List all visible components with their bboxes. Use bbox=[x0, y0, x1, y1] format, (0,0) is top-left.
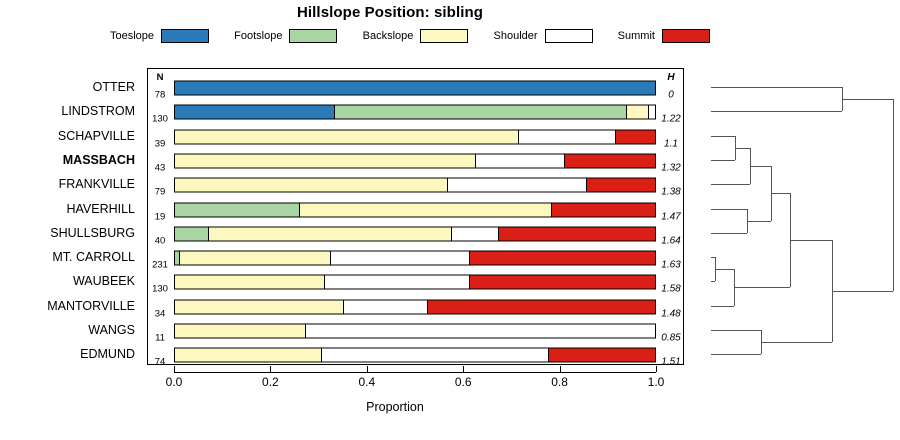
bar-segment-summit bbox=[499, 227, 655, 240]
n-value: 79 bbox=[147, 187, 173, 198]
x-axis-line bbox=[174, 372, 656, 373]
n-value: 130 bbox=[147, 284, 173, 295]
legend-item-backslope: Backslope bbox=[363, 29, 469, 43]
bar-segment-backslope bbox=[627, 106, 649, 119]
h-value: 1.38 bbox=[658, 187, 684, 198]
dendrogram-branch bbox=[832, 291, 893, 292]
stacked-bar bbox=[174, 129, 656, 144]
legend-item-shoulder: Shoulder bbox=[494, 29, 593, 43]
x-tick bbox=[463, 366, 464, 372]
legend-label: Footslope bbox=[234, 30, 282, 42]
dendrogram-branch bbox=[771, 193, 790, 194]
bar-segment-summit bbox=[616, 130, 655, 143]
bar-segment-shoulder bbox=[649, 106, 655, 119]
bar-segment-shoulder bbox=[322, 349, 549, 362]
dendrogram-branch bbox=[790, 240, 832, 241]
dendrogram-branch bbox=[750, 166, 771, 167]
dendrogram-branch bbox=[711, 233, 747, 234]
h-value: 1.48 bbox=[658, 308, 684, 319]
bar-segment-backslope bbox=[175, 276, 325, 289]
row-label-mantorville: MANTORVILLE bbox=[47, 299, 135, 313]
bar-segment-backslope bbox=[180, 252, 331, 265]
n-value: 231 bbox=[147, 260, 173, 271]
row-label-schapville: SCHAPVILLE bbox=[58, 129, 135, 143]
dendrogram-branch bbox=[711, 281, 715, 282]
n-value: 78 bbox=[147, 90, 173, 101]
bar-segment-backslope bbox=[209, 227, 452, 240]
n-column-header: N bbox=[147, 72, 173, 83]
n-value: 40 bbox=[147, 235, 173, 246]
x-tick-label: 0.2 bbox=[262, 375, 279, 389]
dendrogram-branch bbox=[711, 160, 735, 161]
x-tick bbox=[270, 366, 271, 372]
bar-segment-footslope bbox=[175, 227, 209, 240]
dendrogram-branch bbox=[711, 184, 750, 185]
bars-area bbox=[148, 69, 683, 364]
legend: ToeslopeFootslopeBackslopeShoulderSummit bbox=[110, 26, 710, 46]
h-value: 1.22 bbox=[658, 114, 684, 125]
h-column: H 01.221.11.321.381.471.641.631.581.480.… bbox=[658, 68, 684, 365]
row-label-otter: OTTER bbox=[93, 80, 135, 94]
legend-swatch bbox=[289, 29, 337, 43]
x-tick-label: 0.8 bbox=[551, 375, 568, 389]
bar-segment-backslope bbox=[300, 203, 552, 216]
dendrogram-branch bbox=[734, 287, 790, 288]
x-tick bbox=[656, 366, 657, 372]
bar-segment-shoulder bbox=[476, 154, 565, 167]
bar-segment-summit bbox=[565, 154, 655, 167]
row-label-massbach: MASSBACH bbox=[63, 153, 135, 167]
stacked-bar bbox=[174, 275, 656, 290]
legend-label: Shoulder bbox=[494, 30, 538, 42]
legend-label: Toeslope bbox=[110, 30, 154, 42]
dendrogram-branch bbox=[711, 111, 842, 112]
bar-segment-shoulder bbox=[452, 227, 499, 240]
bar-segment-footslope bbox=[175, 203, 300, 216]
n-value: 39 bbox=[147, 138, 173, 149]
x-tick bbox=[174, 366, 175, 372]
h-value: 1.63 bbox=[658, 260, 684, 271]
legend-swatch bbox=[420, 29, 468, 43]
row-label-shullsburg: SHULLSBURG bbox=[50, 226, 135, 240]
bar-segment-backslope bbox=[175, 349, 322, 362]
row-label-wangs: WANGS bbox=[88, 323, 135, 337]
bar-segment-shoulder bbox=[344, 300, 428, 313]
stacked-bar bbox=[174, 348, 656, 363]
bar-segment-toeslope bbox=[175, 106, 335, 119]
bar-segment-shoulder bbox=[331, 252, 470, 265]
row-label-edmund: EDMUND bbox=[80, 347, 135, 361]
legend-label: Summit bbox=[618, 30, 655, 42]
bar-segment-summit bbox=[552, 203, 655, 216]
x-tick bbox=[367, 366, 368, 372]
dendrogram-branch bbox=[711, 306, 734, 307]
n-value: 130 bbox=[147, 114, 173, 125]
dendrogram-branch bbox=[842, 99, 893, 100]
h-value: 1.32 bbox=[658, 162, 684, 173]
dendrogram-branch bbox=[711, 330, 761, 331]
n-column: N 781303943791940231130341174 bbox=[147, 68, 173, 365]
bar-segment-toeslope bbox=[175, 82, 655, 95]
stacked-bar bbox=[174, 105, 656, 120]
stacked-bar bbox=[174, 324, 656, 339]
bar-segment-backslope bbox=[175, 130, 519, 143]
bar-segment-summit bbox=[470, 276, 655, 289]
h-value: 1.58 bbox=[658, 284, 684, 295]
n-value: 34 bbox=[147, 308, 173, 319]
dendrogram-branch bbox=[735, 148, 750, 149]
bar-segment-summit bbox=[470, 252, 655, 265]
bar-segment-summit bbox=[428, 300, 655, 313]
h-column-header: H bbox=[658, 72, 684, 83]
legend-item-toeslope: Toeslope bbox=[110, 29, 209, 43]
x-axis-title: Proportion bbox=[0, 400, 790, 414]
bar-segment-backslope bbox=[175, 325, 306, 338]
x-tick-label: 1.0 bbox=[648, 375, 665, 389]
stacked-bar bbox=[174, 226, 656, 241]
stacked-bar bbox=[174, 251, 656, 266]
n-value: 19 bbox=[147, 211, 173, 222]
row-label-lindstrom: LINDSTROM bbox=[61, 104, 135, 118]
row-label-frankville: FRANKVILLE bbox=[59, 177, 135, 191]
n-value: 11 bbox=[147, 333, 173, 344]
dendrogram-branch bbox=[747, 221, 771, 222]
bar-segment-shoulder bbox=[448, 179, 588, 192]
stacked-bar bbox=[174, 202, 656, 217]
legend-label: Backslope bbox=[363, 30, 414, 42]
x-tick-label: 0.6 bbox=[455, 375, 472, 389]
legend-item-footslope: Footslope bbox=[234, 29, 337, 43]
h-value: 1.1 bbox=[658, 138, 684, 149]
bar-segment-backslope bbox=[175, 179, 448, 192]
stacked-bar bbox=[174, 153, 656, 168]
stacked-bar bbox=[174, 299, 656, 314]
h-value: 0.85 bbox=[658, 333, 684, 344]
legend-swatch bbox=[161, 29, 209, 43]
bar-segment-backslope bbox=[175, 300, 344, 313]
dendrogram-branch bbox=[893, 99, 894, 291]
x-tick bbox=[560, 366, 561, 372]
legend-swatch bbox=[662, 29, 710, 43]
row-label-haverhill: HAVERHILL bbox=[66, 202, 135, 216]
bar-segment-footslope bbox=[335, 106, 627, 119]
hillslope-position-chart: Hillslope Position: sibling ToeslopeFoot… bbox=[0, 0, 900, 440]
bar-segment-shoulder bbox=[325, 276, 469, 289]
dendrogram-branch bbox=[711, 354, 761, 355]
h-value: 0 bbox=[658, 90, 684, 101]
h-value: 1.47 bbox=[658, 211, 684, 222]
row-label-waubeek: WAUBEEK bbox=[73, 274, 135, 288]
bar-segment-shoulder bbox=[306, 325, 655, 338]
n-value: 43 bbox=[147, 162, 173, 173]
dendrogram-branch bbox=[715, 269, 734, 270]
dendrogram-branch bbox=[711, 209, 747, 210]
chart-title: Hillslope Position: sibling bbox=[0, 4, 780, 21]
stacked-bar bbox=[174, 81, 656, 96]
legend-item-summit: Summit bbox=[618, 29, 710, 43]
plot-panel bbox=[147, 68, 684, 365]
x-tick-label: 0.0 bbox=[166, 375, 183, 389]
bar-segment-backslope bbox=[175, 154, 476, 167]
row-label-mt-carroll: MT. CARROLL bbox=[52, 250, 135, 264]
dendrogram bbox=[690, 68, 895, 365]
bar-segment-summit bbox=[549, 349, 655, 362]
dendrogram-branch bbox=[711, 87, 842, 88]
x-tick-label: 0.4 bbox=[358, 375, 375, 389]
dendrogram-branch bbox=[711, 136, 735, 137]
dendrogram-branch bbox=[761, 342, 832, 343]
stacked-bar bbox=[174, 178, 656, 193]
bar-segment-shoulder bbox=[519, 130, 616, 143]
legend-swatch bbox=[545, 29, 593, 43]
bar-segment-summit bbox=[587, 179, 655, 192]
h-value: 1.64 bbox=[658, 235, 684, 246]
row-label-column: OTTERLINDSTROMSCHAPVILLEMASSBACHFRANKVIL… bbox=[0, 68, 143, 365]
